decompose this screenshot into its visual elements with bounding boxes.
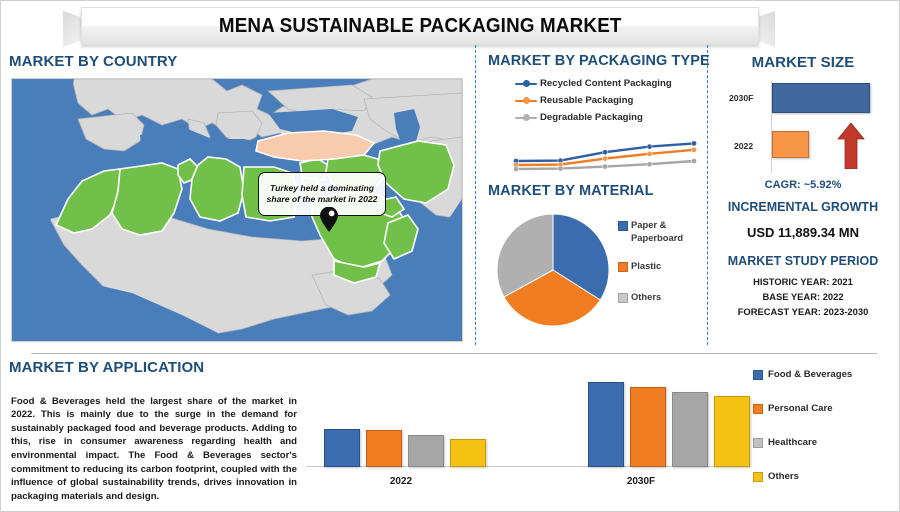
x-label-2030f: 2030F [556,476,726,487]
bar-2030f-personal-care [630,387,666,467]
map-pin-icon [319,207,339,233]
bar-2022-others [450,439,486,467]
bar-2030f [772,83,870,113]
application-bar-chart: 2022 2030F [306,363,746,493]
application-legend: Food & Beverages Personal Care Healthcar… [753,367,898,503]
market-by-packaging-type-title: MARKET BY PACKAGING TYPE [488,53,710,69]
study-period-base: BASE YEAR: 2022 [713,291,893,302]
bar-2030f-food-beverages [588,382,624,467]
material-pie-chart [493,210,613,330]
incremental-growth-value: USD 11,889.34 MN [713,225,893,240]
legend-label: Plastic [631,260,661,273]
color-swatch-icon [618,221,628,231]
bar-label-2022: 2022 [734,141,753,151]
color-swatch-icon [753,438,763,448]
legend-label: Degradable Packaging [540,112,643,123]
bar-2022-personal-care [366,430,402,467]
market-by-packaging-type-section: MARKET BY PACKAGING TYPE Recycled Conten… [488,53,703,178]
divider-vertical-right [707,45,708,345]
legend-item-degradable: Degradable Packaging [515,110,672,125]
bar-2030f-others [714,396,750,467]
incremental-growth-title: INCREMENTAL GROWTH [713,200,893,214]
market-by-material-title: MARKET BY MATERIAL [488,183,654,199]
line-marker-icon [515,96,537,106]
color-swatch-icon [618,293,628,303]
market-by-material-section: MARKET BY MATERIAL Paper & Paperboard Pl… [488,183,703,345]
page-title: MENA SUSTAINABLE PACKAGING MARKET [219,15,622,38]
divider-vertical-left [475,45,476,345]
line-marker-icon [515,113,537,123]
legend-label: Personal Care [768,403,833,414]
map-svg [12,79,462,341]
legend-item-food-beverages: Food & Beverages [753,367,898,382]
bar-2022 [772,131,809,158]
legend-item-paper: Paper & Paperboard [618,219,703,244]
cagr-value: CAGR: ~5.92% [713,179,893,191]
market-study-period-title: MARKET STUDY PERIOD [713,254,893,268]
legend-label: Recycled Content Packaging [540,78,672,89]
growth-arrow-icon [837,123,865,169]
bar-label-2030f: 2030F [729,93,753,103]
color-swatch-icon [753,472,763,482]
legend-label: Others [768,471,799,482]
application-description: Food & Beverages held the largest share … [11,395,297,504]
divider-horizontal [31,353,877,354]
legend-label: Paper & Paperboard [631,219,703,244]
bar-2030f-healthcare [672,392,708,467]
market-by-application-title: MARKET BY APPLICATION [9,359,204,376]
title-ribbon: MENA SUSTAINABLE PACKAGING MARKET [81,7,759,45]
market-by-country-title: MARKET BY COUNTRY [9,53,177,70]
packaging-line-chart [510,131,700,177]
legend-label: Food & Beverages [768,369,852,380]
legend-item-reusable: Reusable Packaging [515,93,672,108]
legend-item-others: Others [753,469,898,484]
material-legend: Paper & Paperboard Plastic Others [618,219,703,320]
color-swatch-icon [753,404,763,414]
legend-label: Others [631,291,661,304]
market-size-title: MARKET SIZE [713,54,893,71]
legend-item-plastic: Plastic [618,260,703,273]
line-marker-icon [515,79,537,89]
legend-item-personal-care: Personal Care [753,401,898,416]
legend-item-others: Others [618,291,703,304]
packaging-legend: Recycled Content Packaging Reusable Pack… [515,76,672,127]
legend-item-healthcare: Healthcare [753,435,898,450]
mena-map: Turkey held a dominating share of the ma… [11,78,463,342]
market-by-application-section: MARKET BY APPLICATION Food & Beverages h… [9,359,309,509]
study-period-historic: HISTORIC YEAR: 2021 [713,276,893,287]
market-by-country-section: MARKET BY COUNTRY [9,53,464,345]
infographic-page: MENA SUSTAINABLE PACKAGING MARKET MARKET… [0,0,900,512]
title-banner: MENA SUSTAINABLE PACKAGING MARKET [63,7,775,47]
legend-label: Healthcare [768,437,817,448]
x-label-2022: 2022 [316,476,486,487]
legend-item-recycled: Recycled Content Packaging [515,76,672,91]
bar-2022-food-beverages [324,429,360,467]
study-period-forecast: FORECAST YEAR: 2023-2030 [713,306,893,317]
ribbon-fold-left-icon [63,11,82,47]
color-swatch-icon [618,262,628,272]
bar-2022-healthcare [408,435,444,467]
market-size-bar-chart: 2030F 2022 [729,79,881,175]
color-swatch-icon [753,370,763,380]
legend-label: Reusable Packaging [540,95,633,106]
market-size-section: MARKET SIZE 2030F 2022 CAGR: ~5.92% INCR… [713,53,893,345]
